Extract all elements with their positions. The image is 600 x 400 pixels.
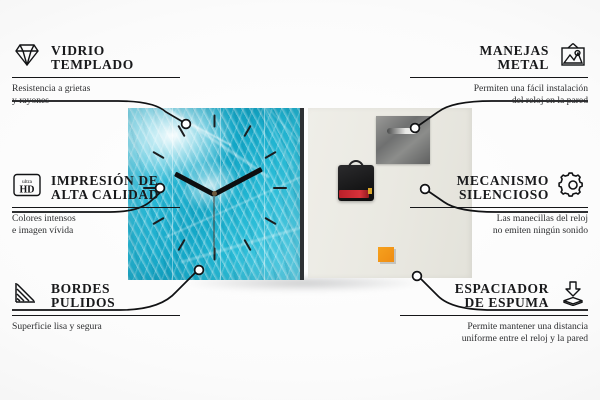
clock-tick — [273, 187, 287, 189]
callout-espaciador-espuma: ESPACIADOR DE ESPUMA Permite mantener un… — [400, 280, 588, 345]
callout-subtitle: Las manecillas del reloj no emiten ningú… — [410, 213, 588, 236]
foam-spacer-icon — [558, 280, 588, 311]
glass-pane-line — [264, 108, 265, 280]
callout-title: MECANISMO SILENCIOSO — [457, 174, 549, 202]
callout-subtitle: Colores intensos e imagen vívida — [12, 213, 190, 236]
clock-second-hand — [214, 193, 215, 255]
callout-title: IMPRESIÓN DE ALTA CALIDAD — [51, 174, 159, 202]
callout-impresion-alta-calidad: ultra HD IMPRESIÓN DE ALTA CALIDAD Color… — [12, 172, 190, 237]
callout-rule — [12, 315, 180, 316]
foam-spacer — [378, 247, 394, 262]
clock-tick — [214, 115, 216, 128]
hanger-slot — [387, 128, 417, 134]
clock-tick — [177, 125, 185, 137]
callout-title: MANEJAS METAL — [480, 44, 549, 72]
callout-title: BORDES PULIDOS — [51, 282, 115, 310]
clock-tick — [264, 151, 276, 159]
callout-subtitle: Permiten una fácil instalación del reloj… — [410, 83, 588, 106]
callout-rule — [12, 77, 180, 78]
callout-rule — [410, 207, 588, 208]
picture-hanger-icon — [558, 42, 588, 73]
callout-rule — [400, 315, 588, 316]
callout-title: VIDRIO TEMPLADO — [51, 44, 134, 72]
callout-subtitle: Resistencia a grietas y rayones — [12, 83, 190, 106]
movement-hook — [348, 160, 364, 168]
polished-edges-icon — [12, 280, 42, 311]
clock-tick — [177, 239, 185, 251]
callout-rule — [12, 207, 180, 208]
metal-hanger-plate — [376, 116, 430, 164]
infographic-canvas: VIDRIO TEMPLADO Resistencia a grietas y … — [0, 0, 600, 400]
battery-terminal — [368, 188, 372, 194]
clock-movement — [338, 165, 374, 201]
callout-subtitle: Superficie lisa y segura — [12, 321, 190, 333]
callout-manejas-metal: MANEJAS METAL Permiten una fácil instala… — [410, 42, 588, 107]
callout-bordes-pulidos: BORDES PULIDOS Superficie lisa y segura — [12, 280, 190, 333]
callout-mecanismo-silencioso: MECANISMO SILENCIOSO Las manecillas del … — [410, 172, 588, 237]
gear-icon — [558, 172, 588, 203]
svg-text:HD: HD — [20, 185, 35, 196]
clock-tick — [264, 217, 276, 225]
callout-rule — [410, 77, 588, 78]
callout-subtitle: Permite mantener una distancia uniforme … — [400, 321, 588, 344]
callout-vidrio-templado: VIDRIO TEMPLADO Resistencia a grietas y … — [12, 42, 190, 107]
clock-tick — [152, 151, 164, 159]
clock-center-cap — [212, 191, 217, 196]
battery — [339, 190, 369, 198]
feather-strand — [180, 219, 304, 263]
callout-title: ESPACIADOR DE ESPUMA — [455, 282, 549, 310]
ultra-hd-icon: ultra HD — [12, 172, 42, 203]
diamond-icon — [12, 42, 42, 73]
